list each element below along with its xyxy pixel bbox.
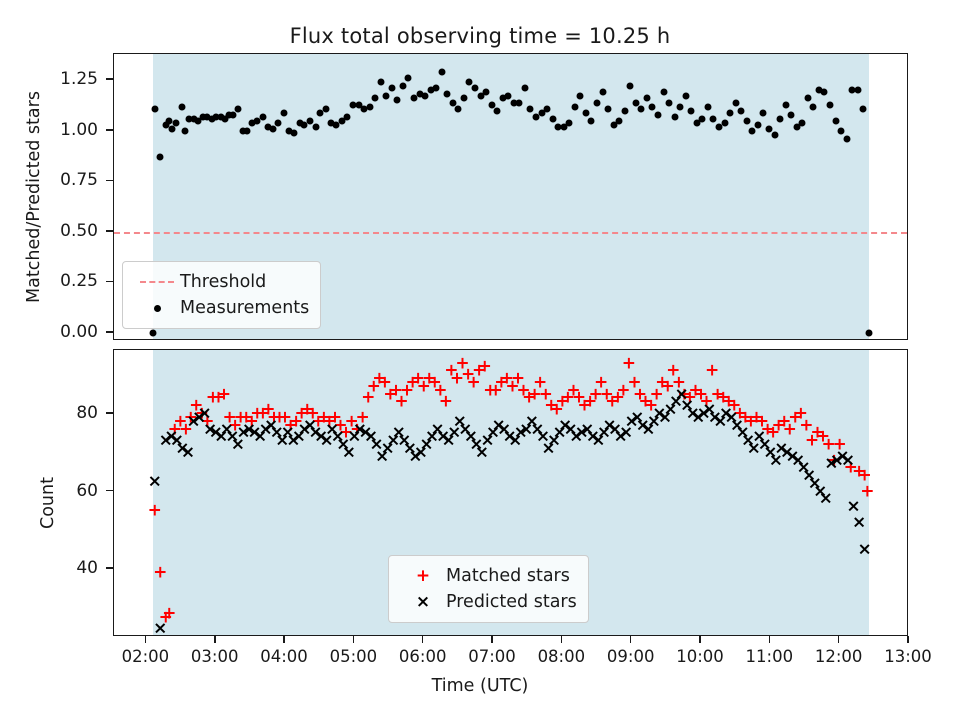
data-point — [377, 79, 384, 86]
data-point — [682, 93, 689, 100]
data-point — [178, 103, 185, 110]
legend-item-measurements[interactable]: Measurements — [134, 295, 309, 321]
matched-star-point: + — [705, 363, 719, 380]
data-point — [760, 109, 767, 116]
legend-label-predicted-stars: Predicted stars — [446, 592, 577, 612]
data-point — [549, 115, 556, 122]
data-point — [166, 117, 173, 124]
data-point — [677, 103, 684, 110]
data-point — [804, 95, 811, 102]
panel-ratio: Threshold Measurements — [113, 53, 908, 340]
data-point — [259, 113, 266, 120]
x-tick — [630, 636, 632, 643]
data-point — [777, 115, 784, 122]
data-point — [655, 111, 662, 118]
predicted-star-point: × — [153, 621, 167, 636]
data-point — [666, 99, 673, 106]
data-point — [721, 119, 728, 126]
data-point — [588, 117, 595, 124]
x-tick — [907, 636, 909, 643]
data-point — [280, 109, 287, 116]
y-tick — [106, 129, 113, 131]
data-point — [566, 119, 573, 126]
x-tick — [769, 636, 771, 643]
data-point — [577, 93, 584, 100]
legend-top[interactable]: Threshold Measurements — [122, 261, 321, 329]
data-point — [149, 329, 156, 336]
figure-title: Flux total observing time = 10.25 h — [0, 24, 960, 48]
data-point — [182, 127, 189, 134]
data-point — [854, 87, 861, 94]
data-point — [771, 131, 778, 138]
matched-star-point: + — [478, 359, 492, 376]
data-point — [455, 105, 462, 112]
legend-label-matched-stars: Matched stars — [446, 566, 570, 586]
data-point — [388, 85, 395, 92]
data-point — [699, 115, 706, 122]
legend-item-threshold[interactable]: Threshold — [134, 269, 309, 295]
y-axis-title-top: Matched/Predicted stars — [24, 91, 44, 303]
legend-bottom[interactable]: + Matched stars × Predicted stars — [388, 555, 589, 623]
data-point — [843, 135, 850, 142]
data-point — [643, 95, 650, 102]
x-tick-label: 06:00 — [399, 647, 447, 666]
x-tick — [353, 636, 355, 643]
data-point — [399, 83, 406, 90]
panel-count: ++++++++++++++++++++++++++++++++++++++++… — [113, 349, 908, 636]
y-tick — [106, 78, 113, 80]
data-point — [312, 123, 319, 130]
data-point — [582, 109, 589, 116]
legend-item-predicted-stars[interactable]: × Predicted stars — [400, 589, 577, 615]
predicted-star-point: × — [819, 491, 833, 508]
predicted-star-point: × — [852, 514, 866, 531]
data-point — [544, 105, 551, 112]
x-tick — [838, 636, 840, 643]
y-tick — [106, 490, 113, 492]
data-point — [621, 107, 628, 114]
x-tick-label: 03:00 — [191, 647, 239, 666]
data-point — [151, 105, 158, 112]
data-point — [571, 103, 578, 110]
y-axis-title-bottom: Count — [38, 477, 58, 529]
data-point — [275, 119, 282, 126]
data-point — [743, 117, 750, 124]
data-point — [270, 125, 277, 132]
data-point — [727, 109, 734, 116]
x-tick-label: 02:00 — [122, 647, 170, 666]
data-point — [704, 103, 711, 110]
x-tick — [699, 636, 701, 643]
data-point — [173, 119, 180, 126]
threshold-line — [114, 232, 907, 234]
x-tick — [561, 636, 563, 643]
matched-star-point: + — [439, 394, 453, 411]
y-tick — [106, 281, 113, 283]
data-point — [671, 113, 678, 120]
matched-star-point: + — [217, 386, 231, 403]
x-tick — [422, 636, 424, 643]
data-point — [838, 127, 845, 134]
data-point — [732, 99, 739, 106]
predicted-star-point: × — [841, 452, 855, 469]
predicted-star-point: × — [342, 444, 356, 461]
cross-marker-icon: × — [400, 594, 446, 611]
y-tick — [106, 180, 113, 182]
data-point — [291, 129, 298, 136]
y-tick-label: 1.25 — [18, 69, 98, 89]
data-point — [366, 103, 373, 110]
x-tick-label: 10:00 — [676, 647, 724, 666]
x-tick — [283, 636, 285, 643]
data-point — [494, 107, 501, 114]
data-point — [527, 105, 534, 112]
predicted-star-point: × — [181, 444, 195, 461]
data-point — [483, 89, 490, 96]
data-point — [754, 121, 761, 128]
y-tick — [106, 331, 113, 333]
y-tick-label: 80 — [18, 403, 98, 423]
data-point — [616, 117, 623, 124]
data-point — [169, 125, 176, 132]
matched-star-point: + — [622, 355, 636, 372]
data-point — [383, 93, 390, 100]
predicted-star-point: × — [148, 473, 162, 490]
data-point — [521, 85, 528, 92]
x-tick-label: 09:00 — [607, 647, 655, 666]
x-tick-label: 12:00 — [815, 647, 863, 666]
data-point — [234, 105, 241, 112]
y-tick-label: 60 — [18, 481, 98, 501]
data-point — [832, 117, 839, 124]
x-tick-label: 11:00 — [746, 647, 794, 666]
predicted-star-point: × — [858, 541, 872, 558]
matched-star-point: + — [148, 502, 162, 519]
y-tick — [106, 567, 113, 569]
x-tick-label: 04:00 — [260, 647, 308, 666]
y-tick-label: 40 — [18, 558, 98, 578]
data-point — [810, 103, 817, 110]
data-point — [372, 95, 379, 102]
data-point — [821, 89, 828, 96]
data-point — [444, 91, 451, 98]
data-point — [688, 107, 695, 114]
data-point — [422, 93, 429, 100]
x-tick — [214, 636, 216, 643]
data-point — [660, 89, 667, 96]
legend-label-measurements: Measurements — [180, 298, 309, 318]
data-point — [344, 113, 351, 120]
data-point — [799, 119, 806, 126]
data-point — [605, 105, 612, 112]
x-tick — [145, 636, 147, 643]
matched-star-point: + — [860, 483, 874, 500]
data-point — [749, 127, 756, 134]
data-point — [594, 99, 601, 106]
matched-star-point: + — [153, 565, 167, 582]
data-point — [460, 95, 467, 102]
x-axis-title: Time (UTC) — [0, 676, 960, 696]
data-point — [860, 105, 867, 112]
data-point — [649, 103, 656, 110]
legend-label-threshold: Threshold — [180, 272, 266, 292]
legend-item-matched-stars[interactable]: + Matched stars — [400, 563, 577, 589]
dot-marker-icon — [134, 305, 180, 312]
data-point — [243, 127, 250, 134]
data-point — [433, 85, 440, 92]
figure-canvas: Flux total observing time = 10.25 h Thre… — [0, 0, 960, 720]
data-point — [516, 99, 523, 106]
y-tick — [106, 412, 113, 414]
data-point — [738, 107, 745, 114]
data-point — [638, 105, 645, 112]
data-point — [627, 83, 634, 90]
x-tick-label: 08:00 — [538, 647, 586, 666]
y-tick-label: 0.00 — [18, 322, 98, 342]
data-point — [788, 111, 795, 118]
data-point — [782, 101, 789, 108]
x-tick-label: 07:00 — [468, 647, 516, 666]
data-point — [394, 97, 401, 104]
data-point — [472, 85, 479, 92]
data-point — [322, 105, 329, 112]
x-tick — [491, 636, 493, 643]
data-point — [230, 111, 237, 118]
data-point — [826, 101, 833, 108]
plus-marker-icon: + — [400, 568, 446, 585]
data-point — [865, 329, 872, 336]
x-tick-label: 13:00 — [884, 647, 932, 666]
data-point — [157, 154, 164, 161]
dashed-line-icon — [134, 281, 180, 283]
data-point — [710, 115, 717, 122]
y-tick — [106, 230, 113, 232]
x-tick-label: 05:00 — [330, 647, 378, 666]
data-point — [438, 69, 445, 76]
data-point — [405, 75, 412, 82]
data-point — [599, 89, 606, 96]
